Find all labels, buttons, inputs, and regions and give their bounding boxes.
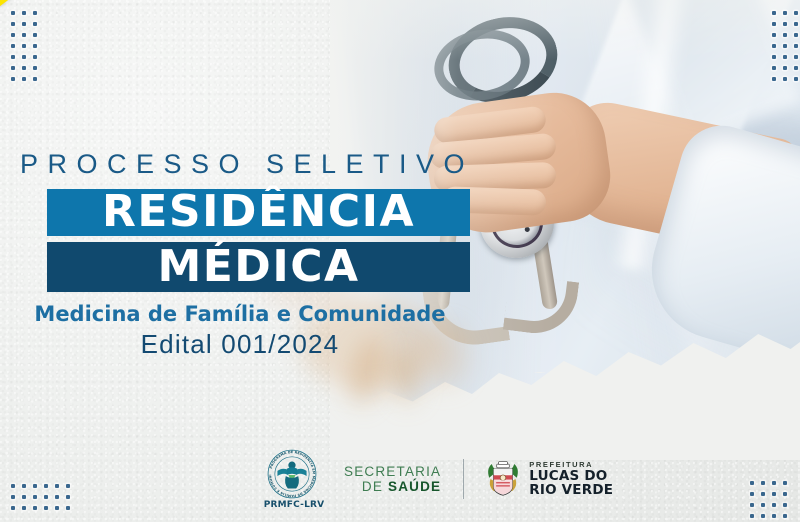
- title-residencia: RESIDÊNCIA: [102, 190, 415, 234]
- grid-dot: [33, 55, 37, 59]
- grid-dot: [772, 492, 776, 496]
- kicker-processo-seletivo: PROCESSO SELETIVO: [14, 150, 480, 180]
- grid-dot: [33, 22, 37, 26]
- grid-dot: [22, 11, 26, 15]
- grid-dot: [33, 44, 37, 48]
- grid-dot: [11, 55, 15, 59]
- grid-dot: [772, 77, 776, 81]
- grid-dot: [11, 77, 15, 81]
- grid-dot: [794, 66, 798, 70]
- grid-dot: [794, 55, 798, 59]
- grid-dot: [750, 503, 754, 507]
- grid-dot: [772, 66, 776, 70]
- grid-dot: [761, 514, 765, 518]
- grid-dot: [11, 44, 15, 48]
- grid-dot: [794, 33, 798, 37]
- grid-dot: [33, 484, 37, 488]
- title-bar-medica: MÉDICA: [47, 242, 470, 292]
- grid-dot: [11, 66, 15, 70]
- secretaria-de: DE: [362, 479, 388, 494]
- grid-dot: [44, 506, 48, 510]
- grid-dot: [33, 506, 37, 510]
- footer-logos: PROGRAMA DE RESIDÊNCIA EM MEDICINA DE FA…: [258, 448, 613, 510]
- grid-dot: [772, 22, 776, 26]
- prefeitura-logo: PREFEITURA LUCAS DO RIO VERDE: [476, 459, 613, 499]
- grid-dot: [783, 503, 787, 507]
- grid-dot: [761, 492, 765, 496]
- grid-dot: [33, 33, 37, 37]
- grid-dot: [772, 55, 776, 59]
- grid-dot: [750, 492, 754, 496]
- grid-dot: [783, 33, 787, 37]
- grid-dot: [783, 514, 787, 518]
- grid-dot: [44, 484, 48, 488]
- grid-dot: [750, 481, 754, 485]
- grid-dot: [22, 495, 26, 499]
- grid-dot: [66, 506, 70, 510]
- title-medica: MÉDICA: [157, 245, 359, 289]
- prefeitura-line-2: RIO VERDE: [529, 483, 613, 497]
- grid-dot: [794, 11, 798, 15]
- subtitle-specialty: Medicina de Família e Comunidade: [0, 302, 480, 326]
- grid-dot: [772, 44, 776, 48]
- dot-grid-bottom-right: [750, 481, 794, 522]
- grid-dot: [761, 503, 765, 507]
- grid-dot: [11, 506, 15, 510]
- secretaria-line-1: SECRETARIA: [344, 464, 441, 479]
- grid-dot: [772, 503, 776, 507]
- grid-dot: [55, 506, 59, 510]
- prefeitura-line-1: LUCAS DO: [529, 469, 613, 483]
- dot-grid-top-right: [772, 11, 800, 88]
- coat-of-arms-icon: [484, 459, 522, 499]
- photo-brush-flecks: [450, 362, 770, 388]
- grid-dot: [783, 44, 787, 48]
- grid-dot: [783, 22, 787, 26]
- grid-dot: [33, 66, 37, 70]
- grid-dot: [11, 33, 15, 37]
- grid-dot: [22, 55, 26, 59]
- dot-grid-bottom-left: [11, 484, 77, 517]
- grid-dot: [22, 22, 26, 26]
- grid-dot: [22, 484, 26, 488]
- grid-dot: [66, 484, 70, 488]
- grid-dot: [761, 481, 765, 485]
- grid-dot: [750, 514, 754, 518]
- grid-dot: [783, 481, 787, 485]
- title-bar-residencia: RESIDÊNCIA: [47, 189, 470, 236]
- prmfc-logo: PROGRAMA DE RESIDÊNCIA EM MEDICINA DE FA…: [258, 448, 330, 510]
- grid-dot: [11, 11, 15, 15]
- dot-grid-top-left: [11, 11, 44, 88]
- grid-dot: [22, 44, 26, 48]
- grid-dot: [794, 44, 798, 48]
- grid-dot: [772, 33, 776, 37]
- secretaria-line-2: DE SAÚDE: [344, 479, 441, 494]
- grid-dot: [783, 77, 787, 81]
- grid-dot: [22, 66, 26, 70]
- grid-dot: [11, 484, 15, 488]
- grid-dot: [783, 492, 787, 496]
- secretaria-de-saude-logo: SECRETARIA DE SAÚDE: [342, 464, 451, 494]
- grid-dot: [33, 11, 37, 15]
- secretaria-saude: SAÚDE: [388, 479, 441, 494]
- footer-divider: [463, 459, 464, 499]
- grid-dot: [22, 506, 26, 510]
- grid-dot: [33, 495, 37, 499]
- grid-dot: [772, 481, 776, 485]
- grid-dot: [783, 55, 787, 59]
- grid-dot: [794, 22, 798, 26]
- prefeitura-text: PREFEITURA LUCAS DO RIO VERDE: [529, 461, 613, 498]
- grid-dot: [783, 66, 787, 70]
- grid-dot: [22, 33, 26, 37]
- grid-dot: [55, 484, 59, 488]
- prmfc-acronym: PRMFC-LRV: [258, 500, 330, 510]
- grid-dot: [772, 514, 776, 518]
- grid-dot: [44, 495, 48, 499]
- grid-dot: [66, 495, 70, 499]
- grid-dot: [772, 11, 776, 15]
- grid-dot: [55, 495, 59, 499]
- prmfc-emblem-icon: PROGRAMA DE RESIDÊNCIA EM MEDICINA DE FA…: [264, 448, 320, 500]
- poster-canvas: EDITAL RETIFICADO PROCESSO SELETIVO RESI…: [0, 0, 800, 522]
- photo-top-fade: [330, 0, 800, 60]
- grid-dot: [11, 22, 15, 26]
- headline-block: PROCESSO SELETIVO RESIDÊNCIA MÉDICA Medi…: [0, 150, 480, 360]
- grid-dot: [22, 77, 26, 81]
- grid-dot: [783, 11, 787, 15]
- grid-dot: [11, 495, 15, 499]
- grid-dot: [33, 77, 37, 81]
- grid-dot: [794, 77, 798, 81]
- edital-number: Edital 001/2024: [0, 329, 480, 360]
